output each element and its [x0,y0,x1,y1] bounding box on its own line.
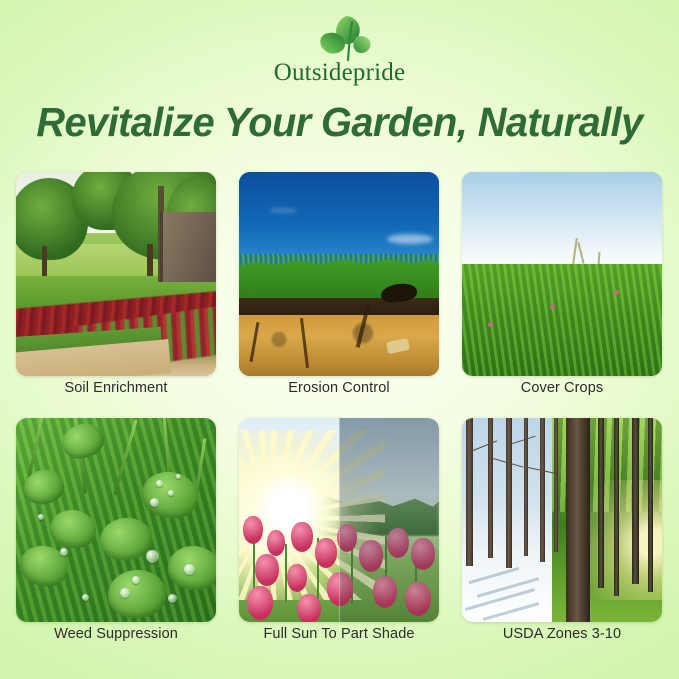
feature-tile-usda-zones: USDA Zones 3-10 [462,418,662,622]
erosion-control-caption: Erosion Control [227,380,451,396]
feature-grid: Soil Enrichment Erosion Control [16,172,663,622]
cover-crops-caption: Cover Crops [450,380,674,396]
feature-tile-weed-suppression: Weed Suppression [16,418,216,622]
soil-enrichment-image [16,172,216,376]
soil-enrichment-caption: Soil Enrichment [4,380,228,396]
brand-header: Outsidepride [0,0,679,85]
weed-suppression-caption: Weed Suppression [4,626,228,642]
erosion-control-image [239,172,439,376]
full-sun-part-shade-caption: Full Sun To Part Shade [227,626,451,642]
feature-tile-cover-crops: Cover Crops [462,172,662,376]
feature-tile-soil-enrichment: Soil Enrichment [16,172,216,376]
feature-tile-full-sun-part-shade: Full Sun To Part Shade [239,418,439,622]
feature-tile-erosion-control: Erosion Control [239,172,439,376]
usda-zones-image [462,418,662,622]
full-sun-part-shade-image [239,418,439,622]
weed-suppression-image [16,418,216,622]
usda-zones-caption: USDA Zones 3-10 [450,626,674,642]
page-title: Revitalize Your Garden, Naturally [10,99,669,146]
brand-wordmark: Outsidepride [274,60,406,85]
leaf-sprout-icon [305,12,375,64]
cover-crops-image [462,172,662,376]
